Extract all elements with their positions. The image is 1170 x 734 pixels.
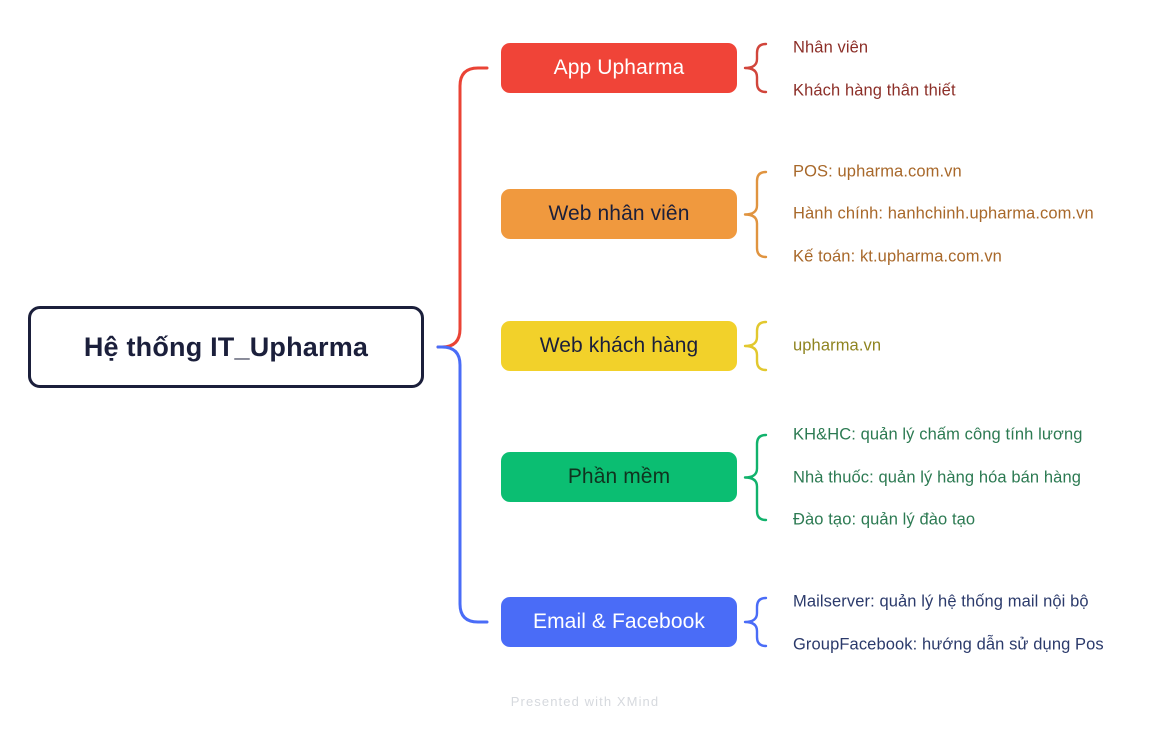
leaf-node[interactable]: Nhân viên <box>793 39 868 58</box>
leaf-node[interactable]: KH&HC: quản lý chấm công tính lương <box>793 426 1083 445</box>
branch-node[interactable]: Phần mềm <box>501 452 737 502</box>
branch-node-label: App Upharma <box>554 56 685 80</box>
branch-brace <box>745 322 766 370</box>
main-connector-lower <box>438 347 487 622</box>
leaf-node[interactable]: upharma.vn <box>793 337 881 356</box>
branch-node-label: Phần mềm <box>568 465 670 489</box>
branch-node[interactable]: Email & Facebook <box>501 597 737 647</box>
leaf-node[interactable]: Nhà thuốc: quản lý hàng hóa bán hàng <box>793 469 1081 488</box>
leaf-node[interactable]: Mailserver: quản lý hệ thống mail nội bộ <box>793 593 1089 612</box>
mindmap-canvas: Hệ thống IT_Upharma App UpharmaNhân viên… <box>0 0 1170 734</box>
branch-node-label: Web nhân viên <box>548 202 689 226</box>
branch-node[interactable]: App Upharma <box>501 43 737 93</box>
leaf-node[interactable]: Khách hàng thân thiết <box>793 82 956 101</box>
leaf-node[interactable]: GroupFacebook: hướng dẫn sử dụng Pos <box>793 636 1104 655</box>
branch-brace <box>745 435 766 520</box>
leaf-node[interactable]: Hành chính: hanhchinh.upharma.com.vn <box>793 205 1094 224</box>
leaf-node[interactable]: POS: upharma.com.vn <box>793 163 962 182</box>
leaf-node[interactable]: Kế toán: kt.upharma.com.vn <box>793 248 1002 267</box>
central-node[interactable]: Hệ thống IT_Upharma <box>28 306 424 388</box>
branch-brace <box>745 44 766 92</box>
leaf-node[interactable]: Đào tạo: quản lý đào tạo <box>793 511 975 530</box>
branch-node-label: Email & Facebook <box>533 610 705 634</box>
footer-credit: Presented with XMind <box>0 694 1170 709</box>
branch-brace <box>745 598 766 646</box>
branch-brace <box>745 172 766 257</box>
branch-node[interactable]: Web khách hàng <box>501 321 737 371</box>
main-connector-upper <box>438 68 487 347</box>
central-node-label: Hệ thống IT_Upharma <box>84 332 368 363</box>
branch-node[interactable]: Web nhân viên <box>501 189 737 239</box>
branch-node-label: Web khách hàng <box>540 334 699 358</box>
